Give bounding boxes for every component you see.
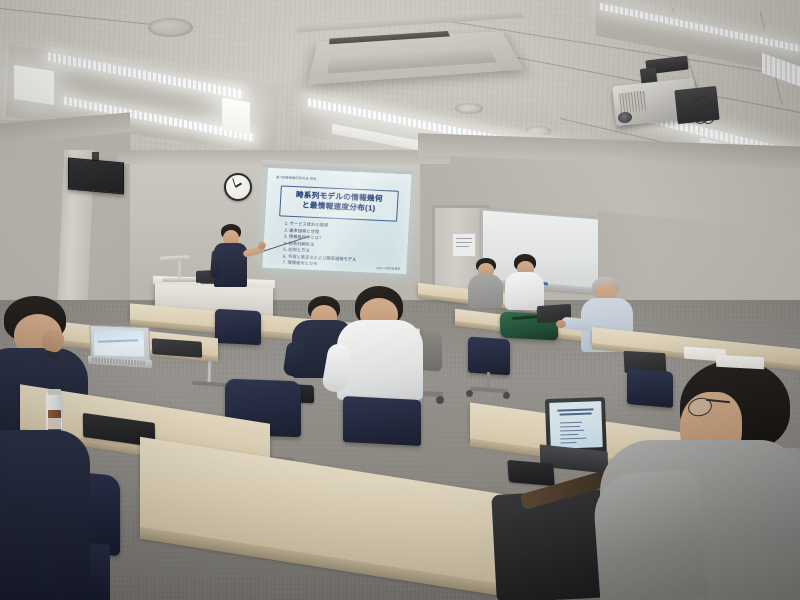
tablet-slide-bullet xyxy=(560,430,584,432)
sign-text-line xyxy=(456,246,469,247)
presenter-arm xyxy=(210,250,221,279)
attendee-right-edge-shoulder xyxy=(760,448,800,548)
tablet-screen xyxy=(549,401,603,449)
chair[interactable] xyxy=(343,396,421,446)
clock-hour-hand xyxy=(236,183,242,188)
bottle-cap xyxy=(48,389,61,395)
tablet-slide-bullet xyxy=(560,438,586,440)
projector-vent xyxy=(619,91,647,114)
attendee-foreground-shoulder xyxy=(592,468,709,600)
clock-minute-hand xyxy=(233,178,237,187)
document-camera-base xyxy=(162,278,198,282)
chair-caster xyxy=(436,396,444,404)
door-notice-sign xyxy=(452,233,476,257)
tablet-slide-title-line xyxy=(557,408,593,411)
tablet-slide-title-line xyxy=(560,412,592,415)
chair[interactable] xyxy=(215,309,261,345)
macbook-screen xyxy=(94,329,145,357)
attendee-back-left-torso xyxy=(468,274,503,308)
tablet-slide-bullet xyxy=(561,442,577,444)
sign-text-line xyxy=(456,242,472,243)
ceiling-speaker xyxy=(148,18,193,37)
attendee-bottom-left-shoulder xyxy=(0,430,90,600)
wall-clock xyxy=(224,173,252,201)
tablet-slide-bullet xyxy=(560,426,580,428)
smartphone xyxy=(507,460,554,486)
bottle-label xyxy=(47,418,62,429)
attendee-senior-hand xyxy=(556,320,566,328)
sign-text-line xyxy=(456,238,472,239)
chair[interactable] xyxy=(468,337,510,376)
screen-glare xyxy=(261,167,413,275)
projection-screen: 第7回情報幾何研究会 資料 時系列モデルの情報幾何 と最情報速度分布(1) 1.… xyxy=(261,167,413,275)
recessed-light-panel xyxy=(222,98,250,135)
lecture-room-photo: 第7回情報幾何研究会 資料 時系列モデルの情報幾何 と最情報速度分布(1) 1.… xyxy=(0,0,800,600)
chair-caster xyxy=(466,390,473,397)
recessed-light-panel xyxy=(14,65,54,105)
tablet-slide-bullet xyxy=(560,422,582,424)
wall-mounted-monitor xyxy=(68,158,124,195)
chair-caster xyxy=(503,392,510,399)
ceiling-speaker xyxy=(455,103,483,114)
attendee-back-center-torso xyxy=(505,272,544,310)
tablet-slide-bullet xyxy=(560,434,578,436)
chair[interactable] xyxy=(627,368,673,408)
handout-paper xyxy=(716,355,765,370)
